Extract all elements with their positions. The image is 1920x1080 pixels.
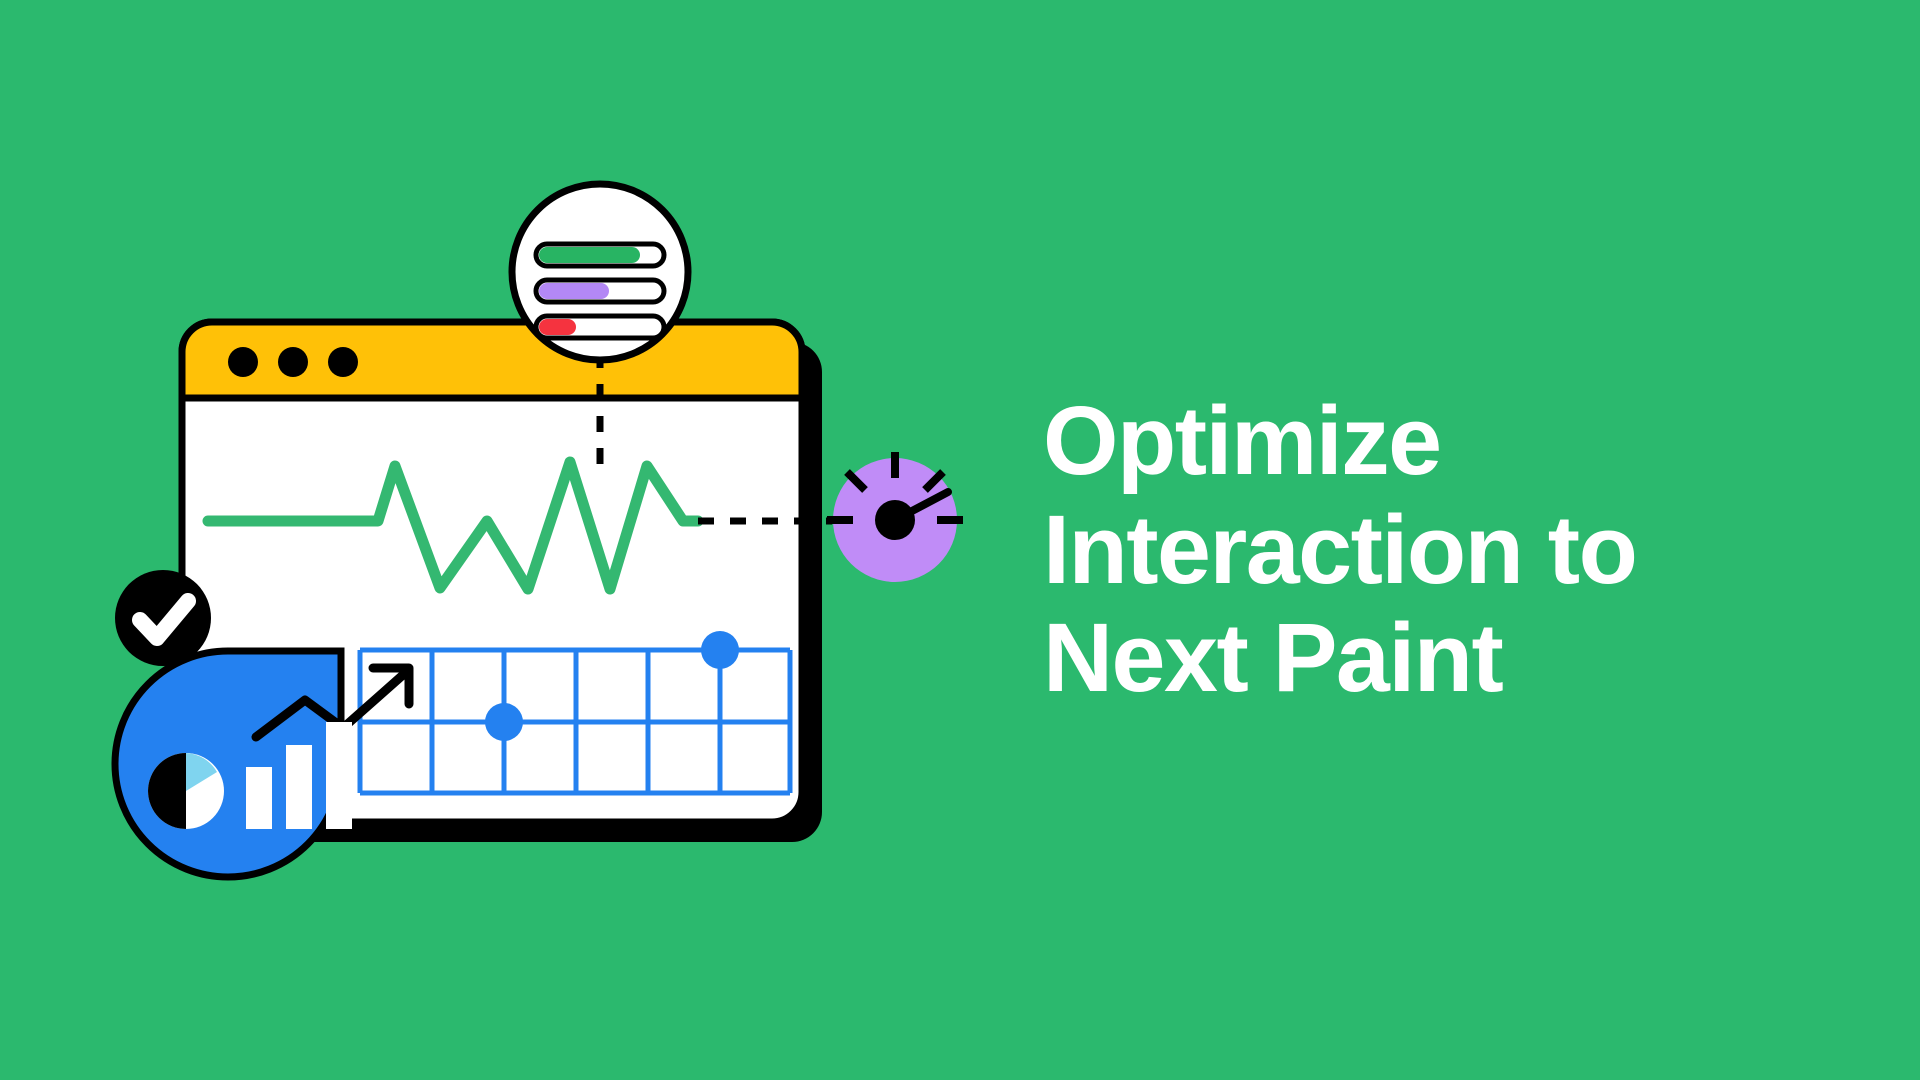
page-title: Optimize Interaction to Next Paint bbox=[1043, 387, 1873, 713]
progress-bar-red-fill bbox=[539, 319, 576, 335]
grid-point-2[interactable] bbox=[701, 631, 739, 669]
speed-gauge[interactable] bbox=[827, 452, 963, 582]
progress-bar-green-fill bbox=[539, 247, 640, 263]
check-badge[interactable] bbox=[115, 570, 211, 666]
analytics-bar-1 bbox=[246, 767, 272, 829]
window-dot-2-icon[interactable] bbox=[278, 347, 308, 377]
progress-bar-purple-fill bbox=[539, 283, 609, 299]
window-dot-3-icon[interactable] bbox=[328, 347, 358, 377]
grid-point-1[interactable] bbox=[485, 703, 523, 741]
analytics-bar-3 bbox=[326, 722, 352, 829]
check-badge-circle bbox=[115, 570, 211, 666]
analytics-bar-2 bbox=[286, 745, 312, 829]
gauge-hub bbox=[875, 500, 915, 540]
metrics-badge[interactable] bbox=[512, 184, 688, 360]
poster-canvas: Optimize Interaction to Next Paint bbox=[0, 0, 1920, 1080]
browser-titlebar bbox=[182, 322, 802, 398]
window-dot-1-icon[interactable] bbox=[228, 347, 258, 377]
